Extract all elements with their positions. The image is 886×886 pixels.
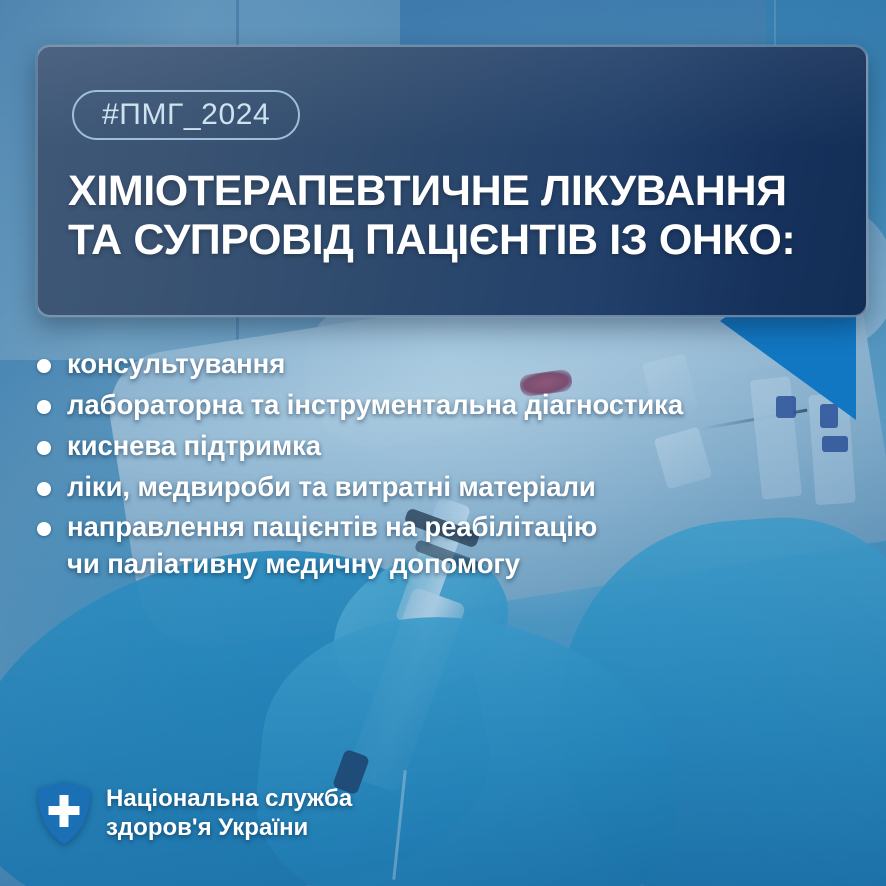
header-card: #ПМГ_2024 ХІМІОТЕРАПЕВТИЧНЕ ЛІКУВАННЯ ТА…: [36, 45, 868, 317]
bullet-dot-icon: [37, 522, 51, 536]
list-item: консультування: [30, 346, 846, 383]
footer-logo: Національна служба здоров'я України: [38, 782, 352, 844]
list-item: лабораторна та інструментальна діагности…: [30, 387, 846, 424]
list-item-line-1: консультування: [67, 348, 285, 379]
list-item-line-2: чи паліативну медичну допомогу: [67, 546, 597, 583]
list-item: направлення пацієнтів на реабілітацію чи…: [30, 509, 846, 583]
bullet-dot-icon: [37, 359, 51, 373]
service-list: консультування лабораторна та інструмент…: [30, 346, 846, 587]
list-item: ліки, медвироби та витратні матеріали: [30, 469, 846, 506]
list-item-label: консультування: [67, 346, 285, 383]
brand-line-1: Національна служба: [106, 784, 352, 813]
list-item-label: направлення пацієнтів на реабілітацію чи…: [67, 509, 597, 583]
bullet-dot-icon: [37, 400, 51, 414]
brand-name: Національна служба здоров'я України: [106, 784, 352, 843]
list-item-line-1: лабораторна та інструментальна діагности…: [67, 389, 683, 420]
list-item-label: киснева підтримка: [67, 428, 321, 465]
list-item-label: ліки, медвироби та витратні матеріали: [67, 469, 596, 506]
poster: #ПМГ_2024 ХІМІОТЕРАПЕВТИЧНЕ ЛІКУВАННЯ ТА…: [0, 0, 886, 886]
brand-line-2: здоров'я України: [106, 813, 352, 842]
page-title-line-2: ТА СУПРОВІД ПАЦІЄНТІВ ІЗ ОНКО:: [68, 216, 846, 265]
bullet-dot-icon: [37, 482, 51, 496]
list-item-label: лабораторна та інструментальна діагности…: [67, 387, 683, 424]
list-item-line-1: направлення пацієнтів на реабілітацію: [67, 511, 597, 542]
list-item: киснева підтримка: [30, 428, 846, 465]
shield-cross-icon: [38, 782, 90, 844]
hashtag-badge: #ПМГ_2024: [72, 90, 300, 140]
bullet-dot-icon: [37, 441, 51, 455]
list-item-line-1: ліки, медвироби та витратні матеріали: [67, 471, 596, 502]
page-title: ХІМІОТЕРАПЕВТИЧНЕ ЛІКУВАННЯ ТА СУПРОВІД …: [68, 167, 846, 265]
list-item-line-1: киснева підтримка: [67, 430, 321, 461]
page-title-line-1: ХІМІОТЕРАПЕВТИЧНЕ ЛІКУВАННЯ: [68, 167, 846, 216]
